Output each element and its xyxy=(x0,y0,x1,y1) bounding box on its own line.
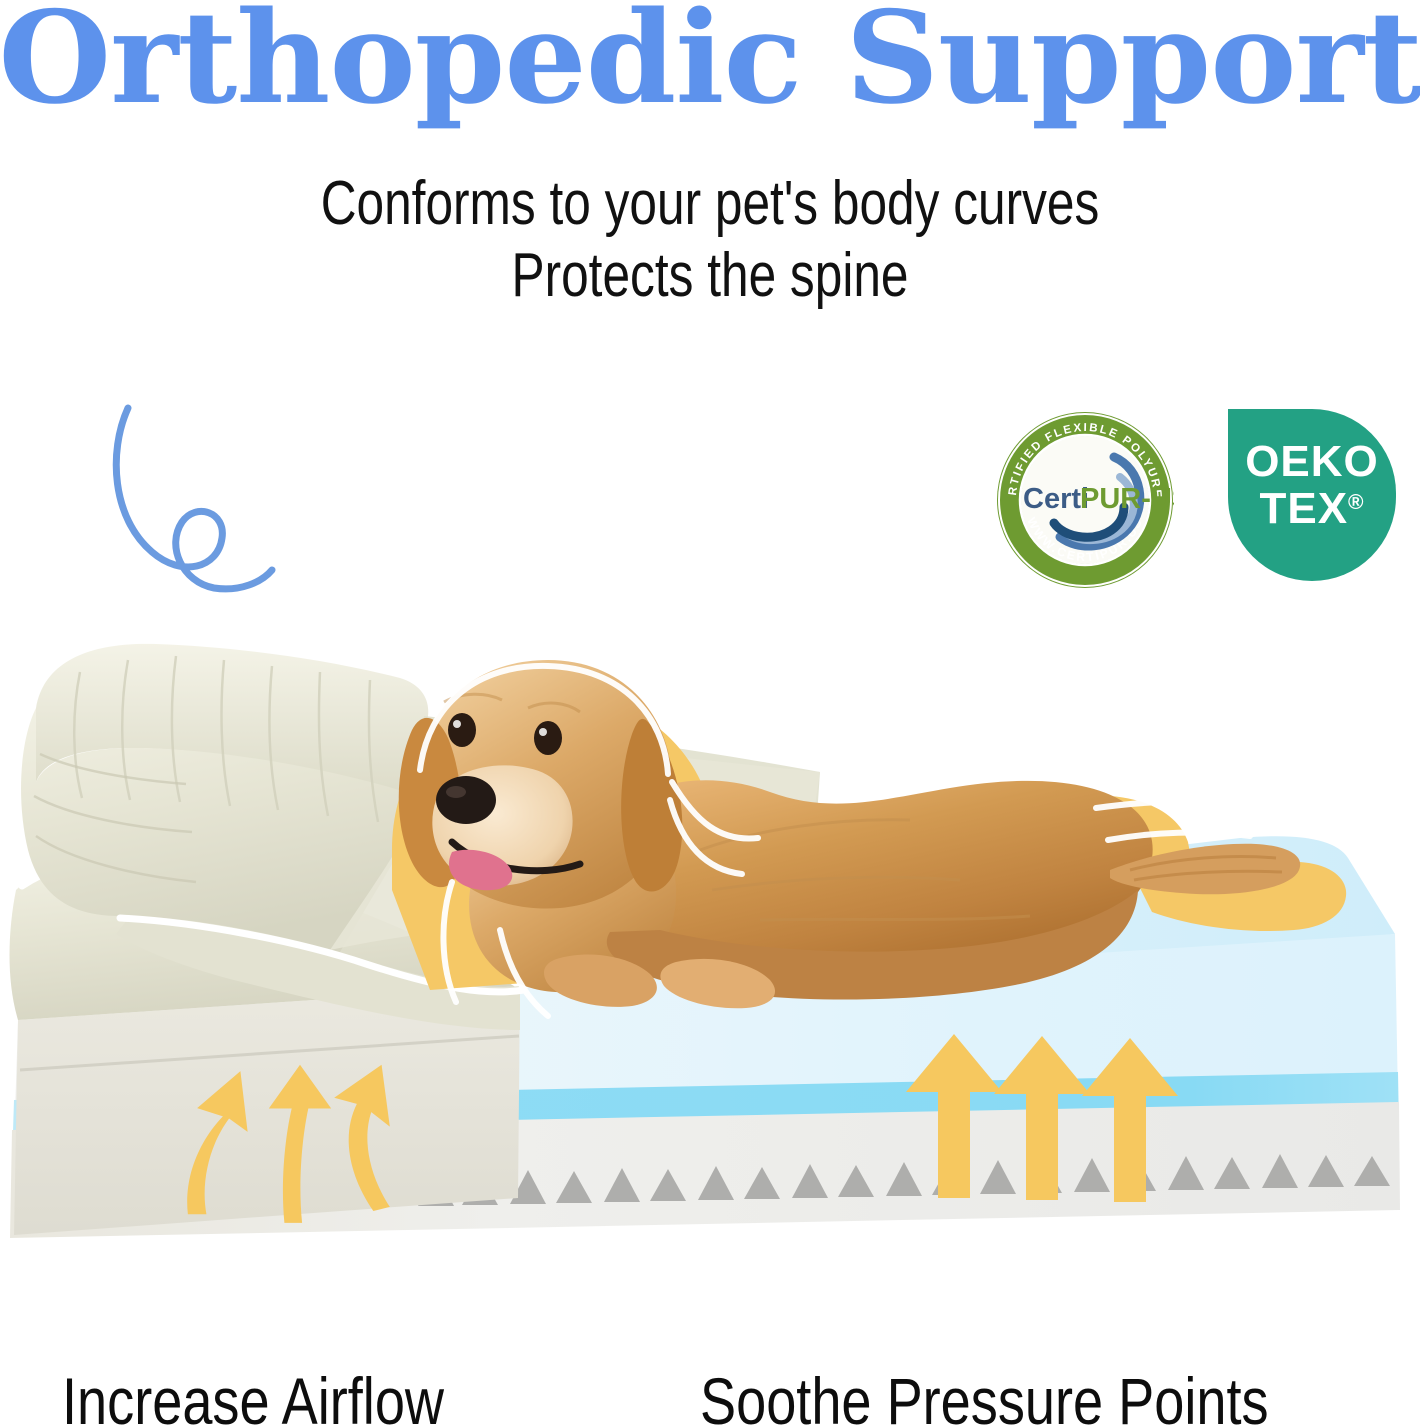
subtitle-line-1: Conforms to your pet's body curves xyxy=(142,173,1278,235)
dog-nose xyxy=(436,776,496,824)
pressure-arrows xyxy=(906,1034,1178,1202)
subtitle-line-2: Protects the spine xyxy=(142,245,1278,307)
product-illustration xyxy=(0,330,1420,1330)
decorative-swirl-icon xyxy=(116,408,272,589)
caption-soothe-pressure-points: Soothe Pressure Points xyxy=(700,1368,1269,1426)
dog-nose-highlight xyxy=(446,786,466,798)
page-title: Orthopedic Support xyxy=(0,0,1420,121)
dog-eye-left xyxy=(448,713,476,747)
dog-eye-right xyxy=(534,721,562,755)
caption-increase-airflow: Increase Airflow xyxy=(62,1368,444,1426)
infographic-page: Orthopedic Support Conforms to your pet'… xyxy=(0,0,1420,1426)
dog-eye-right-glint xyxy=(539,728,547,736)
dog-eye-left-glint xyxy=(453,720,461,728)
